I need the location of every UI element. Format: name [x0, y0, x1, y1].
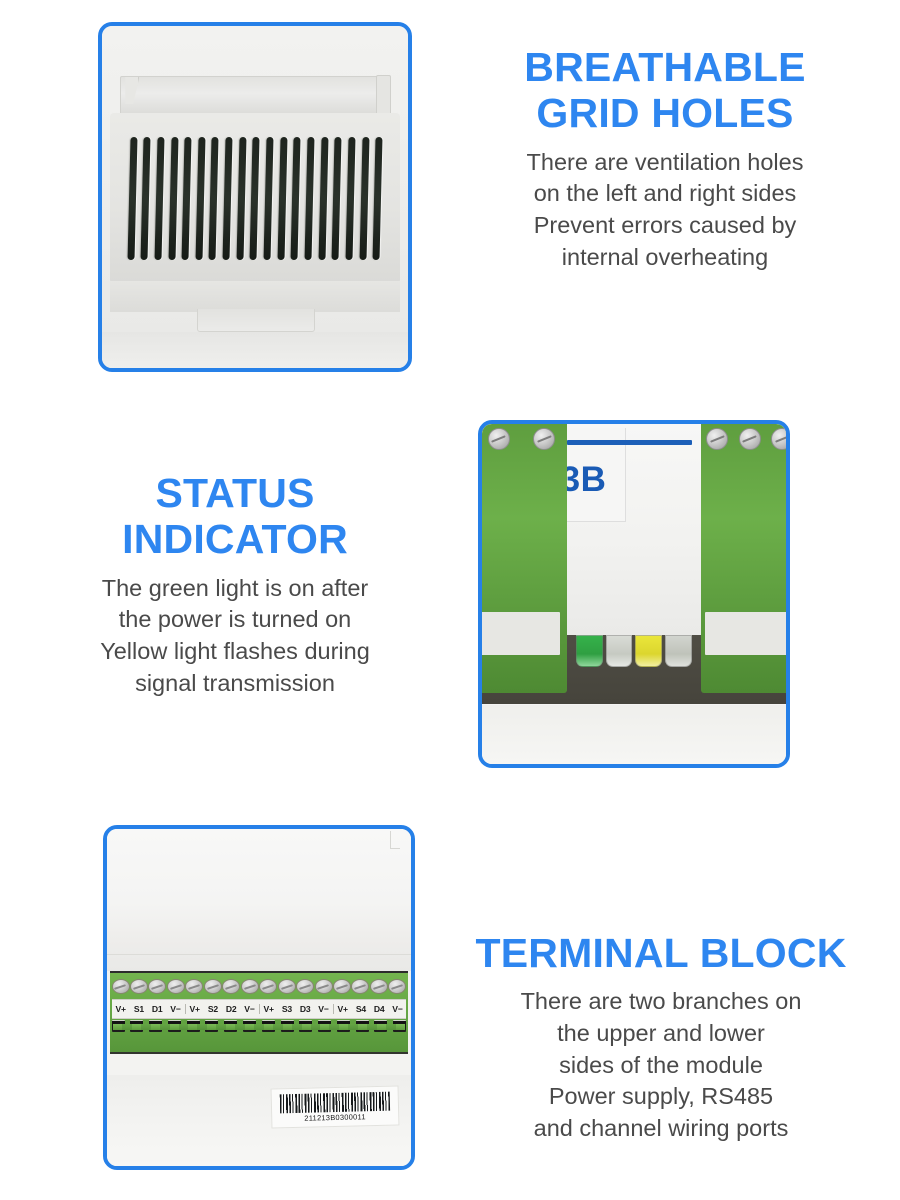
- terminal-pin-label: V−: [240, 1004, 258, 1014]
- led-yellow-signal-icon: [635, 635, 662, 668]
- led-green-power-icon: [576, 635, 603, 668]
- vent-slot: [305, 137, 315, 260]
- terminal-pin-label-strip: V+ S1 D1 V− V+ S2 D2 V− V+ S3 D3 V− V+ S…: [112, 999, 407, 1018]
- terminal-block-right: [701, 424, 790, 693]
- terminal-rib: [302, 1024, 311, 1030]
- vent-slot: [359, 137, 369, 260]
- terminal-screw: [533, 428, 555, 450]
- vent-slot: [141, 137, 151, 260]
- terminal-rib: [377, 1024, 386, 1030]
- terminal-rib: [339, 1024, 348, 1030]
- green-terminal-connector: V+ S1 D1 V− V+ S2 D2 V− V+ S3 D3 V− V+ S…: [110, 971, 408, 1054]
- feature-text-breathable-grid-holes: BREATHABLE GRID HOLES There are ventilat…: [455, 44, 875, 274]
- feature-title: BREATHABLE GRID HOLES: [455, 44, 875, 137]
- vent-slot: [182, 137, 192, 260]
- terminal-rib: [320, 1024, 329, 1030]
- feature-text-terminal-block: TERMINAL BLOCK There are two branches on…: [438, 930, 884, 1145]
- case-corner-notch: [390, 831, 400, 849]
- barcode-serial-number: 211213B0300011: [304, 1112, 366, 1122]
- terminal-screw: [204, 979, 222, 994]
- terminal-label-strip: [480, 612, 560, 655]
- terminal-screw: [130, 979, 148, 994]
- terminal-rib: [113, 1024, 122, 1030]
- led-clear-icon: [665, 635, 692, 668]
- photo-breathable-grid-holes: [98, 22, 412, 372]
- barcode-label: 211213B0300011: [271, 1085, 400, 1129]
- terminal-pin-label: D3: [296, 1004, 314, 1014]
- terminal-pin-label: S2: [204, 1004, 222, 1014]
- terminal-screw: [241, 979, 259, 994]
- terminal-rib: [170, 1024, 179, 1030]
- infographic-sheet: BREATHABLE GRID HOLES There are ventilat…: [0, 0, 900, 1200]
- status-photo-scene: I1213B: [482, 424, 786, 764]
- vent-photo-floor: [102, 332, 408, 368]
- ventilation-slot-grid: [129, 137, 382, 260]
- terminal-pin-label: V+: [259, 1004, 278, 1014]
- terminal-screw: [112, 979, 130, 994]
- terminal-screw: [351, 979, 369, 994]
- vent-slot: [236, 137, 246, 260]
- terminal-rib: [283, 1024, 292, 1030]
- terminal-screw: [388, 979, 406, 994]
- terminal-label-strip: [705, 612, 790, 655]
- terminal-pin-label: D4: [370, 1004, 388, 1014]
- terminal-rib: [226, 1024, 235, 1030]
- case-seam-line: [107, 954, 411, 955]
- vent-slot: [346, 137, 356, 260]
- vent-top-band: [120, 76, 385, 116]
- terminal-screw: [370, 979, 388, 994]
- vent-slot: [332, 137, 342, 260]
- vent-slot: [291, 137, 301, 260]
- vent-slot: [209, 137, 219, 260]
- vent-housing-body: [110, 113, 401, 284]
- terminal-screw: [185, 979, 203, 994]
- photo-status-indicator: I1213B: [478, 420, 790, 768]
- terminal-screw: [296, 979, 314, 994]
- terminal-rib: [358, 1024, 367, 1030]
- terminal-screw: [148, 979, 166, 994]
- terminal-screw: [315, 979, 333, 994]
- led-clear-icon: [606, 635, 633, 668]
- vent-slot: [373, 137, 383, 260]
- terminal-rib: [207, 1024, 216, 1030]
- terminal-screw: [739, 428, 761, 450]
- vent-slot: [250, 137, 260, 260]
- terminal-rib: [264, 1024, 273, 1030]
- terminal-block-left: [478, 424, 567, 693]
- feature-description: There are ventilation holes on the left …: [455, 147, 875, 274]
- module-top-case: [107, 829, 411, 971]
- vent-bottom-tab: [197, 309, 315, 332]
- feature-title: TERMINAL BLOCK: [438, 930, 884, 976]
- terminal-rib: [396, 1024, 405, 1030]
- label-blue-bar: [567, 440, 692, 445]
- terminal-screw: [278, 979, 296, 994]
- status-photo-desk: [482, 705, 786, 765]
- barcode-bars-icon: [279, 1091, 390, 1113]
- vent-slot: [318, 137, 328, 260]
- feature-description: The green light is on after the power is…: [36, 573, 434, 700]
- terminal-pin-label: V−: [388, 1004, 406, 1014]
- terminal-pin-label: D2: [222, 1004, 240, 1014]
- terminal-rib: [245, 1024, 254, 1030]
- terminal-rib: [151, 1024, 160, 1030]
- feature-description: There are two branches on the upper and …: [438, 986, 884, 1145]
- terminal-screw: [222, 979, 240, 994]
- terminal-rib: [188, 1024, 197, 1030]
- terminal-pin-label: V+: [333, 1004, 352, 1014]
- terminal-screw: [706, 428, 728, 450]
- feature-text-status-indicator: STATUS INDICATOR The green light is on a…: [36, 470, 434, 700]
- terminal-rib: [132, 1024, 141, 1030]
- terminal-pin-label: V+: [185, 1004, 204, 1014]
- terminal-pin-label: S3: [278, 1004, 296, 1014]
- vent-photo-scene: [102, 26, 408, 368]
- led-indicator-row: [576, 635, 692, 666]
- vent-lower-lip: [110, 281, 401, 312]
- terminal-lower-skirt: [113, 1024, 405, 1030]
- vent-slot: [195, 137, 205, 260]
- photo-terminal-block: V+ S1 D1 V− V+ S2 D2 V− V+ S3 D3 V− V+ S…: [103, 825, 415, 1170]
- terminal-screw: [259, 979, 277, 994]
- vent-top-band-right-clip: [376, 75, 391, 116]
- feature-title: STATUS INDICATOR: [36, 470, 434, 563]
- terminal-pin-label: V−: [166, 1004, 184, 1014]
- terminal-pin-label: D1: [148, 1004, 166, 1014]
- terminal-screw: [333, 979, 351, 994]
- terminal-photo-scene: V+ S1 D1 V− V+ S2 D2 V− V+ S3 D3 V− V+ S…: [107, 829, 411, 1166]
- terminal-screw: [771, 428, 790, 450]
- terminal-pin-label: V+: [112, 1004, 130, 1014]
- terminal-screw: [488, 428, 510, 450]
- terminal-screw: [167, 979, 185, 994]
- vent-slot: [127, 137, 137, 260]
- vent-slot: [277, 137, 287, 260]
- terminal-screw-row: [112, 975, 407, 999]
- vent-slot: [154, 137, 164, 260]
- vent-slot: [264, 137, 274, 260]
- vent-slot: [223, 137, 233, 260]
- terminal-pin-label: S1: [130, 1004, 148, 1014]
- terminal-pin-label: S4: [352, 1004, 370, 1014]
- vent-slot: [168, 137, 178, 260]
- terminal-pin-label: V−: [314, 1004, 332, 1014]
